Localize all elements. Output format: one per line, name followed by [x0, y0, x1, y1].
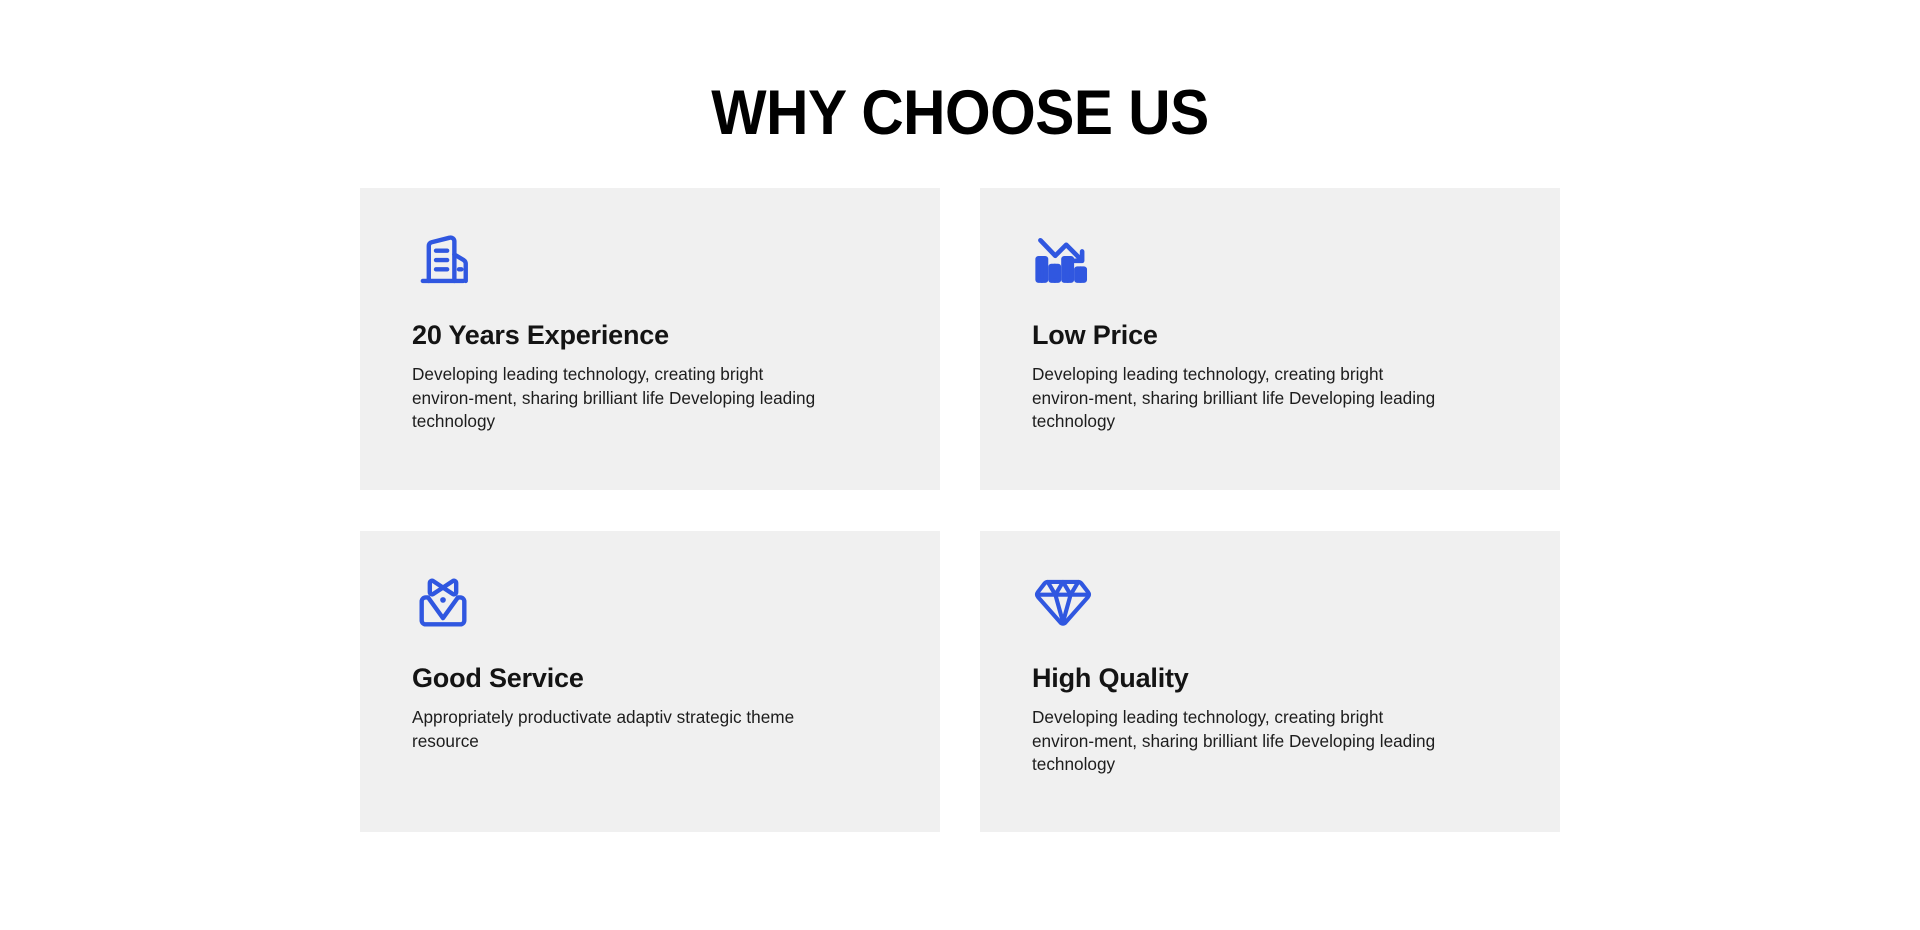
card-title: High Quality	[1032, 662, 1508, 694]
card-description: Developing leading technology, creating …	[412, 363, 824, 433]
office-building-icon	[412, 228, 474, 290]
card-title: Low Price	[1032, 319, 1508, 351]
why-choose-us-section: WHY CHOOSE US 20 Years Experience Develo…	[0, 0, 1920, 930]
feature-card-experience[interactable]: 20 Years Experience Developing leading t…	[360, 188, 940, 490]
feature-card-high-quality[interactable]: High Quality Developing leading technolo…	[980, 531, 1560, 832]
card-description: Developing leading technology, creating …	[1032, 363, 1444, 433]
declining-bar-chart-icon	[1032, 228, 1094, 290]
card-title: Good Service	[412, 662, 888, 694]
card-description: Appropriately productivate adaptiv strat…	[412, 706, 824, 753]
feature-card-good-service[interactable]: Good Service Appropriately productivate …	[360, 531, 940, 832]
feature-card-low-price[interactable]: Low Price Developing leading technology,…	[980, 188, 1560, 490]
diamond-gem-icon	[1032, 571, 1094, 633]
page-title: WHY CHOOSE US	[67, 82, 1853, 145]
card-description: Developing leading technology, creating …	[1032, 706, 1444, 776]
card-title: 20 Years Experience	[412, 319, 888, 351]
bow-tie-suit-icon	[412, 571, 474, 633]
feature-cards-grid: 20 Years Experience Developing leading t…	[360, 188, 1560, 832]
